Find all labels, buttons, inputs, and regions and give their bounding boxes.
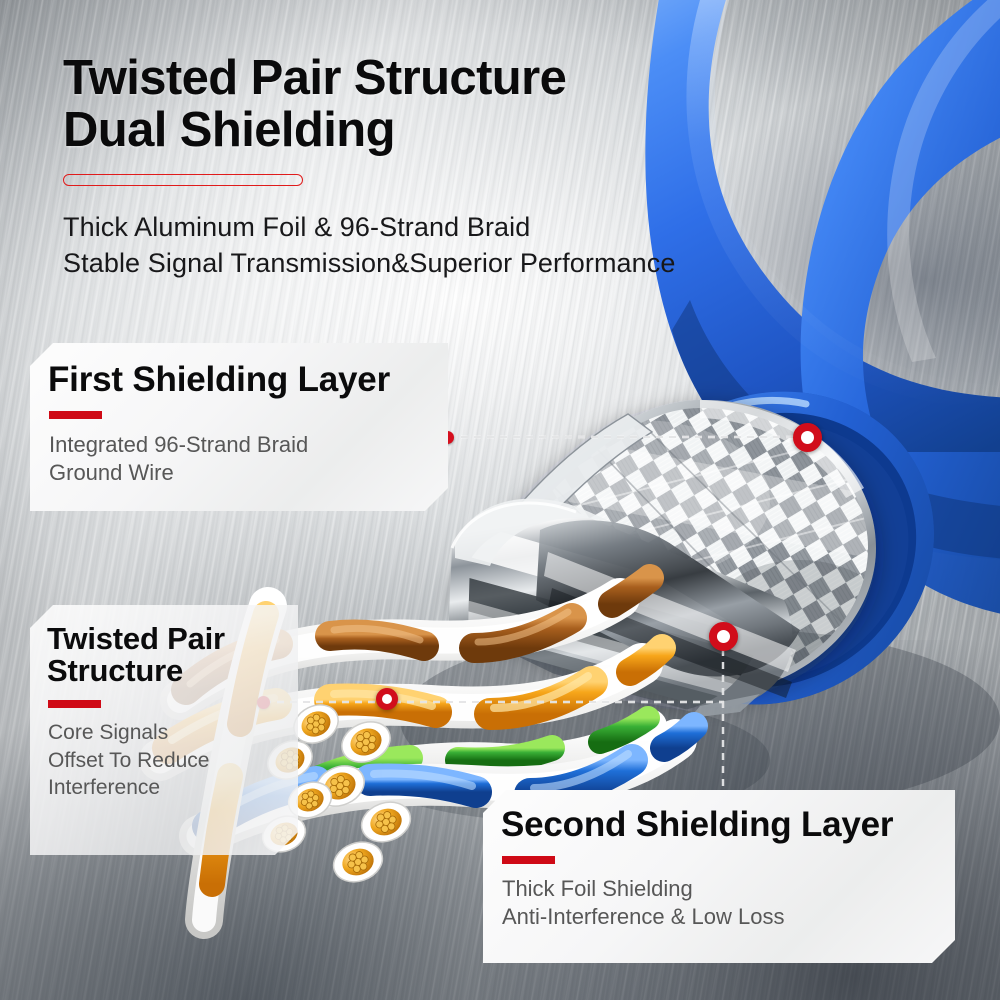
callout-2-title-line-1: Twisted Pair <box>47 623 298 655</box>
subtitle: Thick Aluminum Foil & 96-Strand Braid St… <box>63 210 676 282</box>
title-accent-pill <box>63 174 303 186</box>
title-line-2: Dual Shielding <box>63 104 566 156</box>
callout-1-title: First Shielding Layer <box>48 362 448 398</box>
callout-2-desc-line-2: Offset To Reduce <box>48 747 298 774</box>
page-title: Twisted Pair Structure Dual Shielding <box>63 52 566 157</box>
callout-2-title-line-2: Structure <box>47 655 298 687</box>
marker-ring-foil-shield <box>709 622 738 651</box>
subtitle-line-1: Thick Aluminum Foil & 96-Strand Braid <box>63 210 676 246</box>
callout-3-accent-rule <box>502 856 555 864</box>
callout-2-description: Core Signals Offset To Reduce Interferen… <box>48 719 298 801</box>
marker-ring-twisted-pair <box>376 688 398 710</box>
callout-2-title: Twisted Pair Structure <box>47 623 298 686</box>
callout-3-desc-line-2: Anti-Interference & Low Loss <box>502 903 955 932</box>
callout-2-desc-line-3: Interference <box>48 774 298 801</box>
callout-3-description: Thick Foil Shielding Anti-Interference &… <box>502 875 955 932</box>
callout-3-title: Second Shielding Layer <box>501 807 955 843</box>
callout-3-desc-line-1: Thick Foil Shielding <box>502 875 955 904</box>
callout-second-shielding-layer: Second Shielding Layer Thick Foil Shield… <box>483 790 955 963</box>
callout-1-accent-rule <box>49 411 102 419</box>
callout-2-desc-line-1: Core Signals <box>48 719 298 746</box>
callout-twisted-pair-structure: Twisted Pair Structure Core Signals Offs… <box>30 605 298 855</box>
title-line-1: Twisted Pair Structure <box>63 52 566 104</box>
infographic-stage: Twisted Pair Structure Dual Shielding Th… <box>0 0 1000 1000</box>
callout-1-description: Integrated 96-Strand Braid Ground Wire <box>49 431 448 488</box>
callout-1-desc-line-2: Ground Wire <box>49 459 448 488</box>
callout-first-shielding-layer: First Shielding Layer Integrated 96-Stra… <box>30 343 448 511</box>
callout-2-accent-rule <box>48 700 101 708</box>
subtitle-line-2: Stable Signal Transmission&Superior Perf… <box>63 246 676 282</box>
callout-1-desc-line-1: Integrated 96-Strand Braid <box>49 431 448 460</box>
marker-ring-braid-shield <box>793 423 822 452</box>
